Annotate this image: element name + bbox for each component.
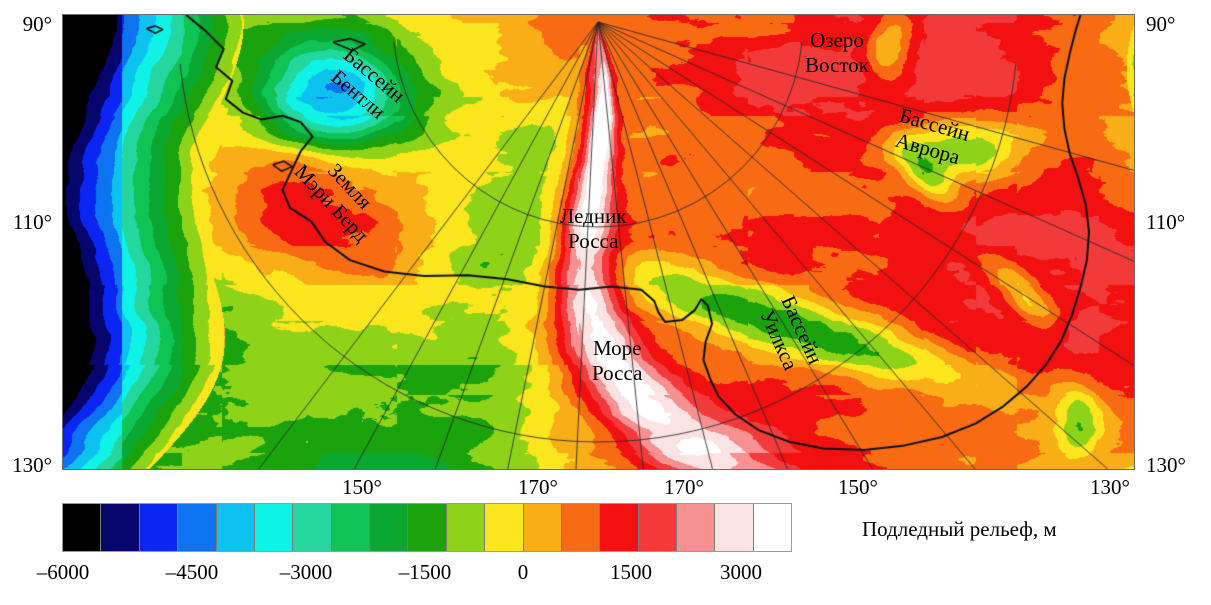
colorbar-swatch	[677, 504, 715, 551]
colorbar-swatch	[562, 504, 600, 551]
map-label-lake-vostok: ОзероВосток	[805, 28, 869, 78]
colorbar-swatch	[600, 504, 638, 551]
axis-tick-label: 90°	[1146, 14, 1208, 35]
map-label-line1: Озеро	[805, 28, 869, 53]
map-label-ross-glacier: ЛедникРосса	[560, 204, 627, 254]
colorbar-swatch	[639, 504, 677, 551]
map-label-line1: Ледник	[560, 204, 627, 229]
colorbar-tick-label: 0	[468, 562, 578, 583]
axis-tick-label: 90°	[0, 14, 52, 35]
map-label-ross-sea: МореРосса	[592, 336, 642, 386]
colorbar-swatch	[255, 504, 293, 551]
colorbar-tick-label: –1500	[370, 562, 480, 583]
colorbar-swatch	[408, 504, 446, 551]
colorbar-swatch	[485, 504, 523, 551]
colorbar-swatch	[754, 504, 791, 551]
axis-tick-label: 170°	[639, 477, 729, 498]
axis-tick-label: 130°	[0, 455, 52, 476]
colorbar-swatch	[332, 504, 370, 551]
axis-tick-label: 150°	[317, 477, 407, 498]
colorbar-swatch	[178, 504, 216, 551]
colorbar-swatch	[63, 504, 101, 551]
colorbar-swatch	[101, 504, 139, 551]
colorbar-swatch	[715, 504, 753, 551]
axis-tick-label: 150°	[813, 477, 903, 498]
axis-tick-label: 110°	[0, 212, 52, 233]
axis-tick-label: 110°	[1146, 212, 1208, 233]
axis-tick-label: 170°	[493, 477, 583, 498]
colorbar-swatch	[524, 504, 562, 551]
colorbar-container	[62, 503, 792, 552]
map-label-line1: Море	[592, 336, 642, 361]
colorbar-title: Подледный рельеф, м	[862, 517, 1057, 542]
axis-tick-label: 130°	[1065, 477, 1155, 498]
colorbar-swatch	[370, 504, 408, 551]
axis-tick-label: 130°	[1146, 455, 1208, 476]
colorbar-tick-label: –6000	[8, 562, 118, 583]
colorbar-swatch	[447, 504, 485, 551]
colorbar-tick-label: 3000	[686, 562, 796, 583]
colorbar[interactable]	[62, 503, 792, 552]
colorbar-swatch	[217, 504, 255, 551]
colorbar-tick-label: –3000	[251, 562, 361, 583]
colorbar-tick-label: 1500	[576, 562, 686, 583]
colorbar-swatch	[140, 504, 178, 551]
colorbar-swatch	[293, 504, 331, 551]
map-label-line2: Росса	[592, 361, 642, 386]
colorbar-tick-label: –4500	[137, 562, 247, 583]
map-label-line2: Восток	[805, 53, 869, 78]
map-label-line2: Росса	[560, 229, 627, 254]
figure-root: 90°110°130° 90°110°130° 150°170°170°150°…	[0, 0, 1211, 605]
